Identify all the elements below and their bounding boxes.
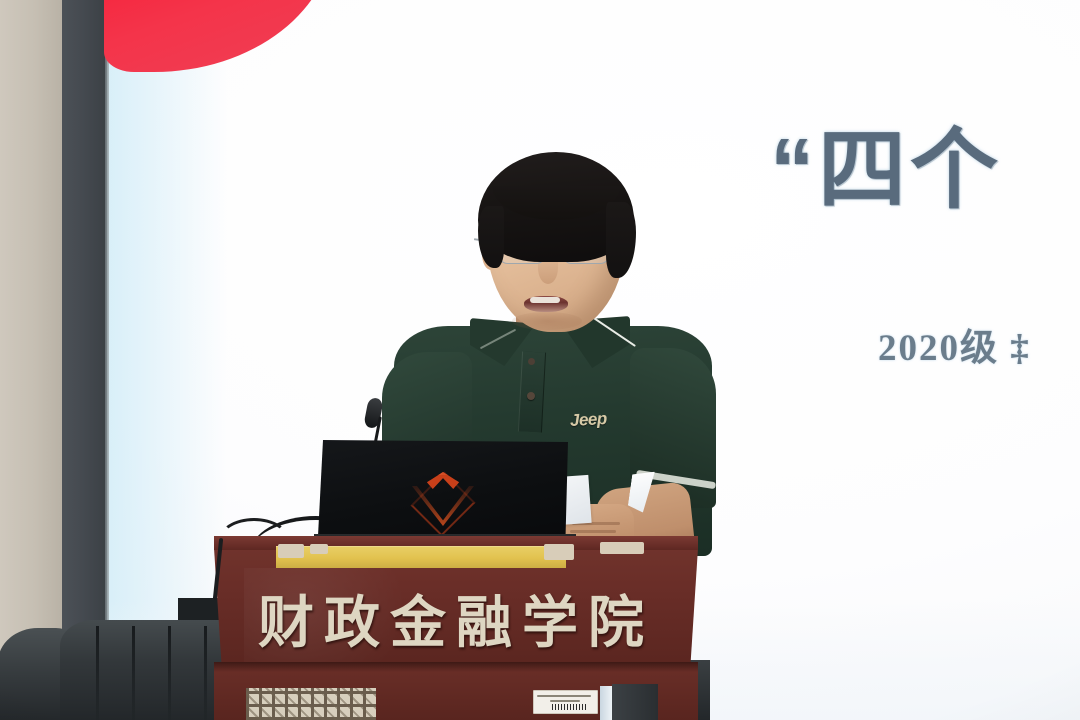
barcode-icon [552, 704, 588, 710]
power-cable [218, 518, 290, 564]
shirt-brand-logo: Jeep [570, 409, 608, 431]
shirt-button [527, 392, 535, 400]
laptop-brand-logo [408, 472, 478, 528]
lectern-base-shadow [214, 662, 698, 672]
asset-tag-label [533, 690, 598, 714]
background-dark-panel [612, 684, 658, 720]
laptop-icon [318, 440, 568, 542]
shirt-button-top [528, 358, 535, 365]
presentation-photo: “四个 2020级 ‡ Jeep [0, 0, 1080, 720]
chin-shadow [512, 312, 582, 330]
background-pillar [600, 686, 612, 720]
teeth [530, 297, 560, 303]
lattice-panel-overlay [246, 688, 376, 720]
hair-side-right [606, 202, 636, 278]
lectern-institution-name: 财政金融学院 [214, 578, 698, 659]
laptop-lid [318, 440, 568, 538]
